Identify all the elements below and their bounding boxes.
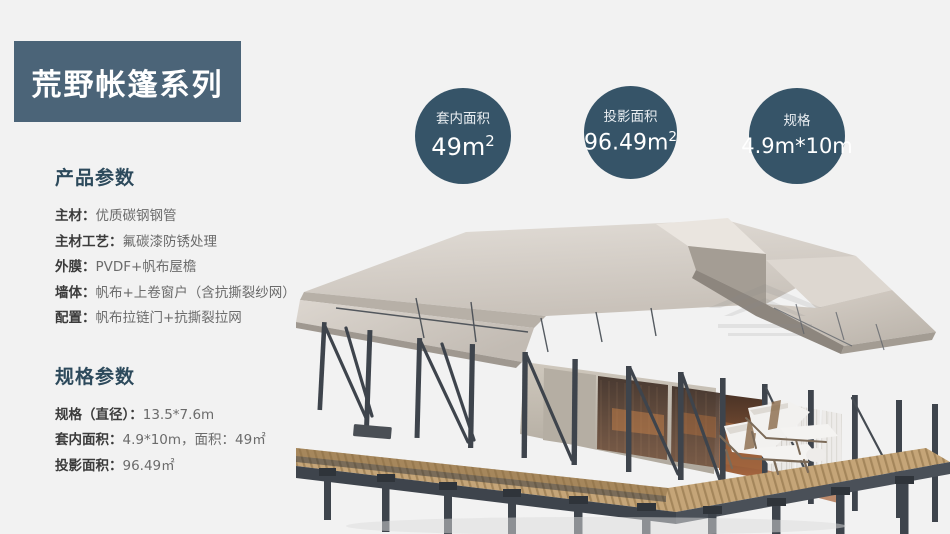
badge-value: 49m2 xyxy=(431,134,494,159)
spec-label: 配置： xyxy=(55,310,96,326)
spec-label: 套内面积： xyxy=(55,432,123,448)
badge-label: 投影面积 xyxy=(604,111,658,125)
spec-label: 外膜： xyxy=(55,259,96,275)
spec-value: 优质碳钢钢管 xyxy=(96,208,177,224)
spec-value: PVDF+帆布屋檐 xyxy=(96,259,197,275)
badge-dimensions: 规格 4.9m*10m xyxy=(749,88,845,184)
badge-superscript: 2 xyxy=(485,132,494,150)
page-title: 荒野帐篷系列 xyxy=(32,60,224,104)
badge-number: 49 xyxy=(431,133,462,161)
safari-tent-render xyxy=(296,212,950,534)
spec-label: 投影面积： xyxy=(55,458,123,474)
spec-value: 4.9*10m，面积：49㎡ xyxy=(123,432,266,448)
badge-superscript: 2 xyxy=(668,129,677,145)
spec-label: 主材： xyxy=(55,208,96,224)
spec-value: 13.5*7.6m xyxy=(143,407,214,423)
badge-unit: m xyxy=(647,130,668,155)
spec-value: 氟碳漆防锈处理 xyxy=(123,234,218,250)
badge-projected-area: 投影面积 96.49m2 xyxy=(584,86,677,179)
badge-number: 4.9m*10m xyxy=(741,134,853,158)
spec-label: 墙体： xyxy=(55,285,96,301)
spec-label: 主材工艺： xyxy=(55,234,123,250)
badge-unit: m xyxy=(462,133,485,161)
badge-label: 套内面积 xyxy=(436,113,490,127)
badge-value: 96.49m2 xyxy=(584,131,677,154)
badge-number: 96.49 xyxy=(584,130,647,155)
product-section-heading: 产品参数 xyxy=(55,163,355,190)
spec-value: 96.49㎡ xyxy=(123,458,175,474)
badge-value: 4.9m*10m xyxy=(741,135,853,157)
badge-label: 规格 xyxy=(784,115,811,129)
spec-value: 帆布+上卷窗户（含抗撕裂纱网） xyxy=(96,285,296,301)
spec-value: 帆布拉链门+抗撕裂拉网 xyxy=(96,310,242,326)
title-block: 荒野帐篷系列 xyxy=(14,41,241,122)
badge-interior-area: 套内面积 49m2 xyxy=(415,88,511,184)
spec-label: 规格（直径）： xyxy=(55,407,143,423)
slide-root: 荒野帐篷系列 产品参数 主材：优质碳钢钢管 主材工艺：氟碳漆防锈处理 外膜：PV… xyxy=(0,0,950,534)
